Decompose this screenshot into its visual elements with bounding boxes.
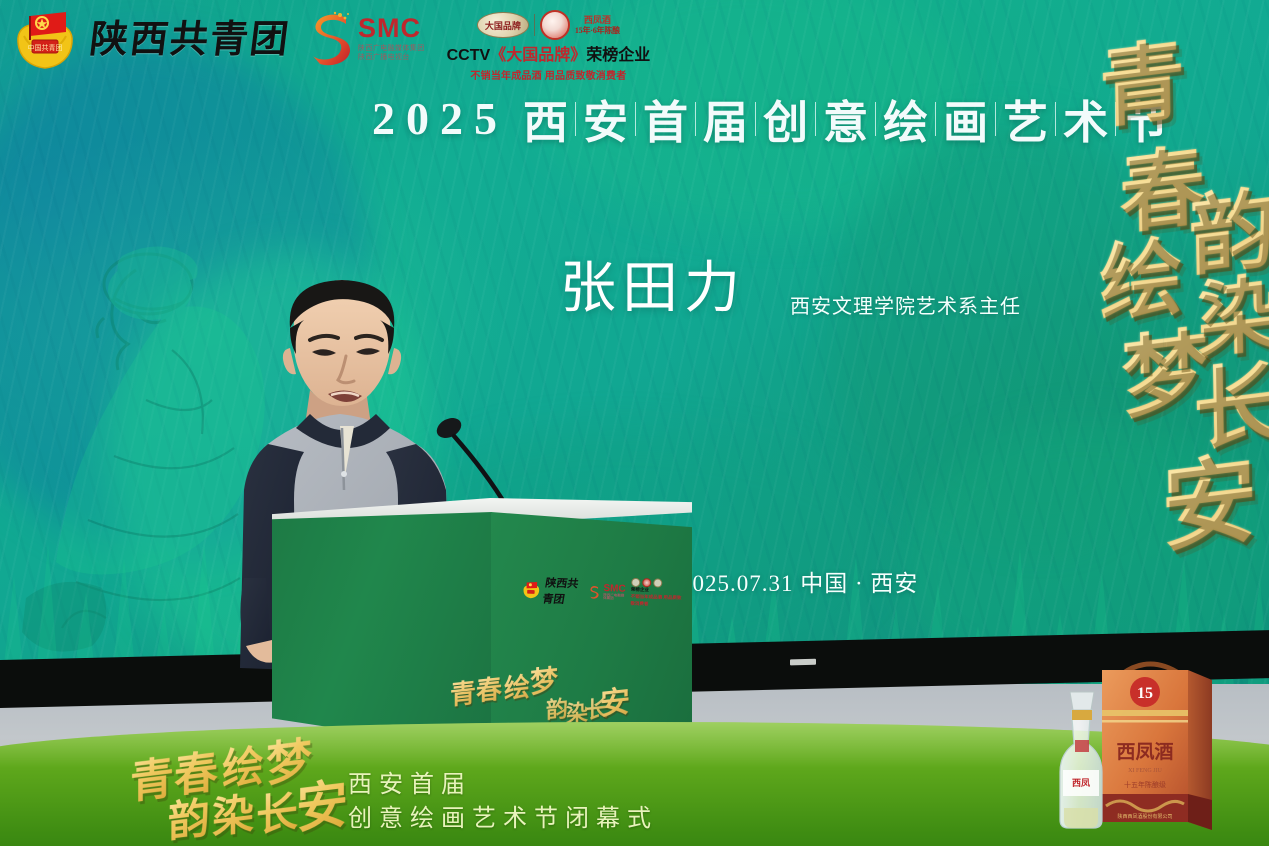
title-char: 首 — [636, 86, 695, 151]
smc-s-mark-icon — [310, 10, 352, 66]
cctv-subline: 不销当年成品酒 用品质致敬消费者 — [447, 67, 651, 82]
podium-cctv-lines: 荣榜企业 不销当年成品酒 用品质致敬消费者 — [630, 587, 682, 609]
podium-smc-sub: 陕西广电融媒体集团 — [603, 594, 627, 602]
banner-calligraphy-char: 安 — [296, 761, 348, 843]
smc-subtitle-1: 陕西广电融媒体集团 — [358, 45, 425, 52]
cctv-badge-row: 大国品牌 西凤酒 15年·6年陈酿 — [447, 10, 651, 40]
banner-line-2: 创意绘画艺术节闭幕式 — [348, 802, 658, 836]
svg-text:中国共青团: 中国共青团 — [28, 43, 63, 52]
banner-calligraphy-char: 长 — [256, 777, 298, 844]
cctv-brand-block: 大国品牌 西凤酒 15年·6年陈酿 CCTV《大国品牌》荣榜企业 不销当年成品酒… — [447, 10, 651, 82]
communist-youth-league-emblem-icon: 中国共青团 — [14, 10, 76, 72]
svg-text:陕西西凤酒股份有限公司: 陕西西凤酒股份有限公司 — [1117, 813, 1172, 820]
trim-clip — [790, 659, 816, 666]
podium-calligraphy-char: 韵 — [546, 691, 568, 725]
title-char: 西 — [516, 86, 575, 151]
podium-calligraphy-char: 青 — [450, 673, 476, 713]
youth-league-wordmark: 陕西共青团 — [86, 10, 293, 70]
cctv-headline-prefix: CCTV — [447, 47, 491, 64]
title-year: 2025 — [372, 92, 508, 145]
podium-calligraphy-char: 春 — [476, 669, 502, 709]
podium-cctv-subline: 不销当年成品酒 用品质致敬消费者 — [630, 594, 682, 609]
cctv-headline-suffix: 荣榜企业 — [586, 47, 650, 64]
svg-text:15: 15 — [1137, 685, 1153, 702]
xifeng-years-text: 15年·6年陈酿 — [575, 26, 620, 35]
xifeng-round-seal-icon — [540, 10, 570, 40]
title-characters: 西 安 首 届 创 意 绘 画 艺 术 节 — [516, 86, 1175, 151]
svg-text:十五年陈酿级: 十五年陈酿级 — [1124, 780, 1166, 789]
title-char: 画 — [936, 86, 995, 151]
svg-text:XI FENG JIU: XI FENG JIU — [1128, 768, 1162, 774]
podium-calligraphy-char: 安 — [600, 676, 630, 723]
national-brand-seal-icon: 大国品牌 — [477, 12, 529, 38]
event-date-location: 2025.07.31 中国 · 西安 — [680, 564, 918, 598]
title-char: 创 — [756, 86, 815, 151]
title-char: 届 — [696, 86, 755, 151]
svg-text:西凤: 西凤 — [1072, 778, 1090, 788]
calligraphy-char: 安 — [1160, 420, 1258, 571]
smc-logo: SMC 陕西广电融媒体集团 陕西广播电视台 — [310, 10, 425, 66]
xifeng-brand-text: 西凤酒 — [575, 15, 620, 25]
podium-calligraphy-char: 绘 — [504, 667, 530, 707]
title-char: 意 — [816, 86, 875, 151]
badge-divider — [534, 14, 535, 36]
speaker-name: 张田力 — [560, 243, 746, 324]
podium-youth-league-emblem-icon — [522, 578, 541, 602]
podium-smc-wordmark: SMC 陕西广电融媒体集团 — [603, 584, 627, 602]
podium-youth-league-wordmark: 陕西共青团 — [541, 574, 587, 607]
speaker-role: 西安文理学院艺术系主任 — [790, 290, 1021, 319]
title-char: 艺 — [996, 86, 1055, 151]
event-stage-photo: 中国共青团 陕西共青团 — [0, 0, 1269, 846]
banner-calligraphy-char: 韵 — [168, 783, 210, 846]
title-char: 绘 — [876, 86, 935, 151]
podium-extra-seal-icon — [653, 579, 662, 588]
banner-event-text: 西安首届 创意绘画艺术节闭幕式 — [348, 768, 658, 836]
svg-text:西凤酒: 西凤酒 — [1116, 741, 1173, 763]
smc-wordmark: SMC — [358, 15, 425, 42]
banner-calligraphy-char: 染 — [212, 779, 254, 846]
podium-cctv-block: 荣榜企业 不销当年成品酒 用品质致敬消费者 — [630, 578, 682, 609]
podium-sponsor-logos: 陕西共青团 SMC 陕西广电融媒体集团 — [522, 576, 682, 612]
smc-subtitle-2: 陕西广播电视台 — [358, 54, 425, 61]
cctv-headline-brand: 《大国品牌》 — [490, 47, 586, 64]
podium-cctv-headline: 荣榜企业 — [631, 587, 649, 593]
vertical-calligraphy: 青 春 绘 梦 韵 染 长 安 — [1093, 8, 1265, 658]
banner-line-1: 西安首届 — [348, 768, 658, 802]
title-char: 安 — [576, 86, 635, 151]
podium-smc-s-mark-icon — [589, 583, 600, 601]
cctv-headline: CCTV《大国品牌》荣榜企业 — [447, 41, 651, 65]
xifeng-years-label: 西凤酒 15年·6年陈酿 — [575, 15, 620, 35]
xifeng-liquor-display: 15 西凤酒 XI FENG JIU 十五年陈酿级 陕西西凤酒股份有限公司 西凤 — [1050, 648, 1269, 846]
event-main-title: 2025 西 安 首 届 创 意 绘 画 艺 术 节 — [372, 86, 1175, 151]
sponsor-logo-bar: 中国共青团 陕西共青团 — [14, 10, 650, 82]
